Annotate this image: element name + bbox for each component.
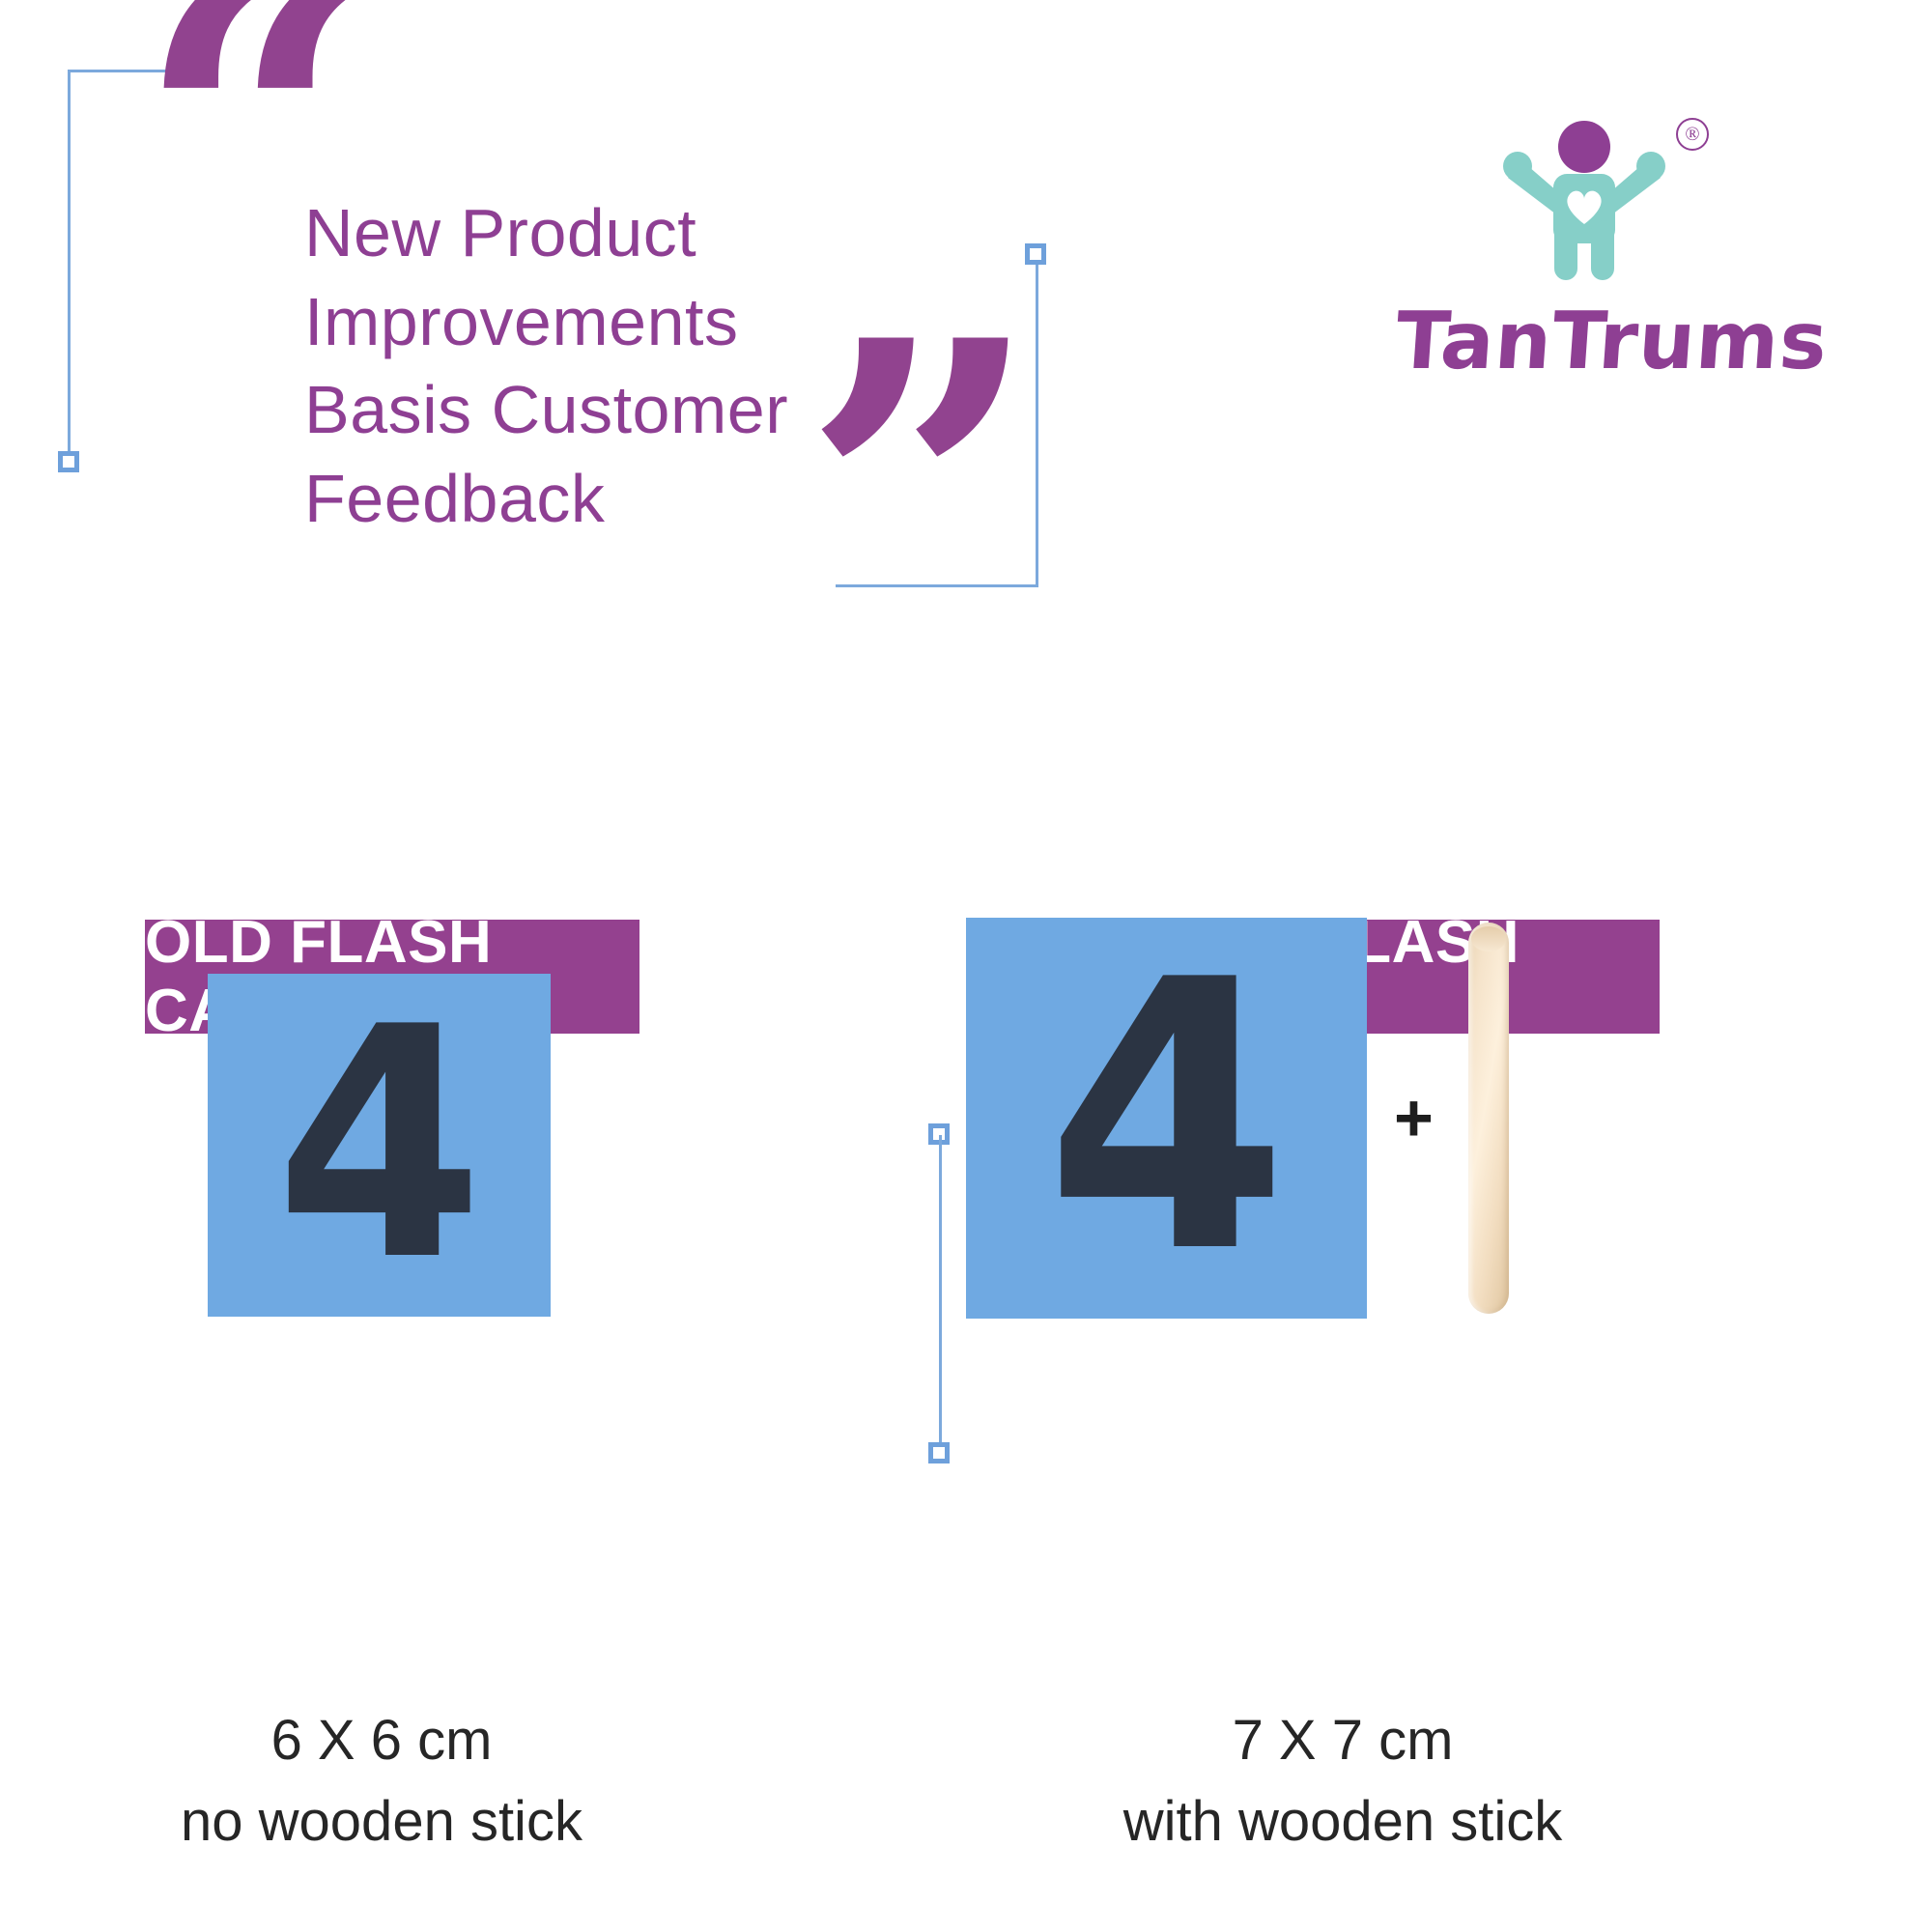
new-card-digit: 4 bbox=[1045, 954, 1289, 1282]
closing-quote-icon: ” bbox=[802, 288, 1035, 703]
child-with-heart-icon bbox=[1492, 116, 1676, 290]
registered-trademark-icon: ® bbox=[1676, 118, 1709, 151]
new-flash-card-image: 4 bbox=[966, 918, 1367, 1319]
old-card-digit: 4 bbox=[275, 1005, 484, 1285]
bracket-end-node bbox=[1025, 243, 1046, 265]
bracket-line-vertical bbox=[1036, 253, 1038, 587]
old-flash-card-image: 4 bbox=[208, 974, 551, 1317]
new-card-caption: 7 X 7 cm with wooden stick bbox=[1024, 1700, 1662, 1862]
bracket-line-horizontal bbox=[836, 584, 1038, 587]
divider-node-bottom bbox=[928, 1442, 950, 1463]
poster-canvas: “ New Product Improvements Basis Custome… bbox=[0, 0, 1932, 1932]
divider-line bbox=[939, 1135, 942, 1454]
wooden-stick-image bbox=[1468, 923, 1509, 1314]
old-card-caption: 6 X 6 cm no wooden stick bbox=[92, 1700, 671, 1862]
old-card-stick-note: no wooden stick bbox=[92, 1781, 671, 1862]
plus-icon: + bbox=[1394, 1084, 1434, 1151]
bracket-end-node bbox=[58, 451, 79, 472]
brand-logo: ® TanTrums bbox=[1377, 116, 1782, 406]
bracket-line-vertical bbox=[68, 70, 71, 456]
new-card-size: 7 X 7 cm bbox=[1233, 1709, 1454, 1772]
old-card-size: 6 X 6 cm bbox=[271, 1709, 493, 1772]
new-card-stick-note: with wooden stick bbox=[1024, 1781, 1662, 1862]
brand-wordmark: TanTrums bbox=[1393, 296, 1786, 387]
